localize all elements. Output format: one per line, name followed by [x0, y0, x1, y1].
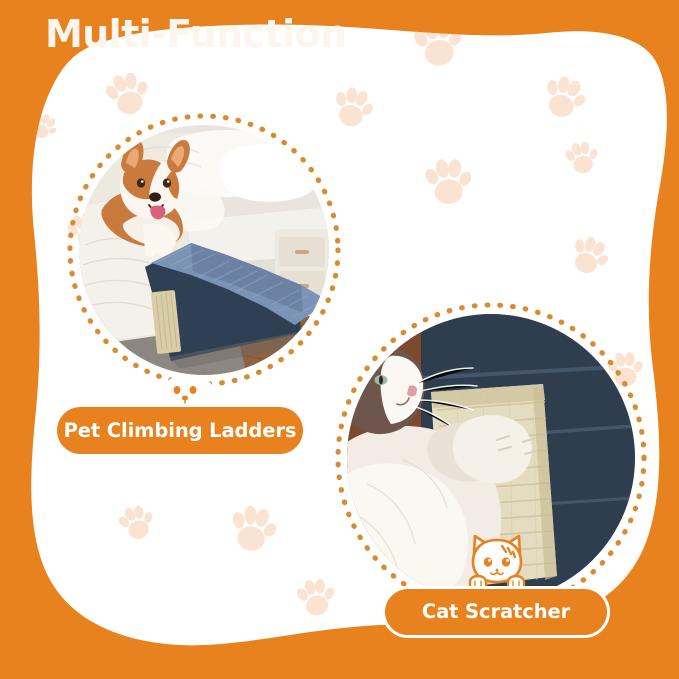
feature-badge-cat-scratcher[interactable]: Cat Scratcher	[385, 589, 607, 635]
feature-badge-pet-climbing-ladders[interactable]: Pet Climbing Ladders	[57, 407, 303, 454]
feature-photo-pet-climbing-ladders	[79, 125, 329, 375]
feature-badge-label: Pet Climbing Ladders	[64, 419, 297, 442]
page-title: Multi-Function	[45, 11, 347, 59]
marketing-banner: Multi-Function	[0, 0, 679, 679]
cat-icon	[466, 532, 528, 590]
feature-badge-label: Cat Scratcher	[422, 600, 570, 623]
